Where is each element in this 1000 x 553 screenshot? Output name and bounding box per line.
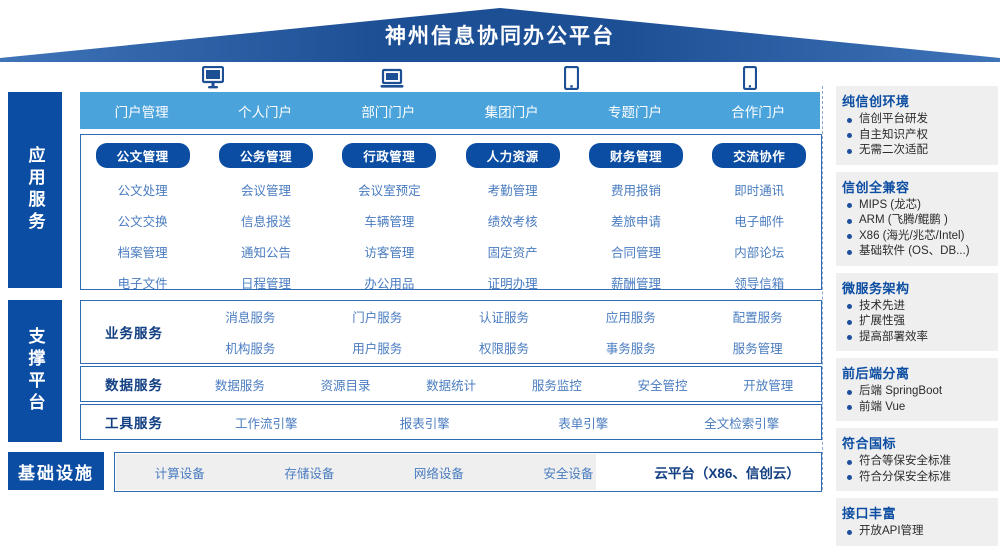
tablet-icon	[564, 66, 579, 90]
support-data-items: 数据服务 资源目录 数据统计 服务监控 安全管控 开放管理	[187, 367, 821, 401]
app-column-title[interactable]: 公文管理	[96, 143, 190, 168]
app-item[interactable]: 证明办理	[488, 273, 538, 292]
app-column: 人力资源 考勤管理 绩效考核 固定资产 证明办理	[451, 135, 574, 289]
sidebar-list-item: 开放API管理	[842, 524, 992, 540]
infrastructure-item[interactable]: 计算设备	[115, 463, 245, 482]
support-item[interactable]: 资源目录	[293, 375, 399, 394]
portal-item[interactable]: 专题门户	[573, 101, 696, 121]
portal-item[interactable]: 门户管理	[80, 101, 203, 121]
support-item[interactable]: 认证服务	[441, 307, 568, 326]
support-row: 机构服务 用户服务 权限服务 事务服务 服务管理	[187, 332, 821, 363]
app-item[interactable]: 公文处理	[118, 180, 168, 199]
sidebar-list-item: 自主知识产权	[842, 128, 992, 144]
application-service-grid: 公文管理 公文处理 公文交换 档案管理 电子文件 公务管理 会议管理 信息报送 …	[80, 134, 822, 290]
sidebar-list-item: 符合分保安全标准	[842, 470, 992, 486]
app-item[interactable]: 公文交换	[118, 211, 168, 230]
app-item[interactable]: 固定资产	[488, 242, 538, 261]
app-item[interactable]: 费用报销	[611, 180, 661, 199]
rail-infrastructure-label: 基础设施	[18, 459, 94, 484]
sidebar-section-frontend-backend-separation: 前后端分离 后端 SpringBoot 前端 Vue	[836, 358, 998, 421]
support-business-service-box: 业务服务 消息服务 门户服务 认证服务 应用服务 配置服务 机构服务 用户服务 …	[80, 300, 822, 364]
support-item[interactable]: 服务监控	[504, 375, 610, 394]
app-item[interactable]: 差旅申请	[611, 211, 661, 230]
app-item[interactable]: 档案管理	[118, 242, 168, 261]
support-business-label: 业务服务	[81, 322, 187, 342]
support-data-service-box: 数据服务 数据服务 资源目录 数据统计 服务监控 安全管控 开放管理	[80, 366, 822, 402]
sidebar-section-title: 信创全兼容	[842, 177, 992, 196]
support-item[interactable]: 表单引擎	[504, 413, 663, 432]
rail-infrastructure: 基础设施	[8, 452, 104, 490]
infrastructure-item[interactable]: 网络设备	[374, 463, 504, 482]
laptop-icon	[380, 68, 404, 90]
app-item[interactable]: 访客管理	[364, 242, 414, 261]
support-tool-service-box: 工具服务 工作流引擎 报表引擎 表单引擎 全文检索引擎	[80, 404, 822, 440]
support-row: 工作流引擎 报表引擎 表单引擎 全文检索引擎	[187, 405, 821, 439]
support-item[interactable]: 工作流引擎	[187, 413, 346, 432]
sidebar-section-title: 纯信创环境	[842, 91, 992, 110]
app-column: 公务管理 会议管理 信息报送 通知公告 日程管理	[204, 135, 327, 289]
support-item[interactable]: 开放管理	[715, 375, 821, 394]
sidebar-list-item: 符合等保安全标准	[842, 454, 992, 470]
architecture-diagram: 神州信息协同办公平台	[0, 0, 1000, 500]
sidebar-list-item: 信创平台研发	[842, 112, 992, 128]
platform-roof: 神州信息协同办公平台	[0, 0, 1000, 62]
app-column-title[interactable]: 财务管理	[589, 143, 683, 168]
app-column: 交流协作 即时通讯 电子邮件 内部论坛 领导信箱	[698, 135, 821, 289]
portal-bar: 门户管理 个人门户 部门门户 集团门户 专题门户 合作门户	[80, 92, 820, 129]
app-item[interactable]: 内部论坛	[734, 242, 784, 261]
sidebar-section-title: 前后端分离	[842, 363, 992, 382]
app-column-title[interactable]: 人力资源	[466, 143, 560, 168]
device-icon-row	[80, 62, 820, 90]
sidebar-section-list: 后端 SpringBoot 前端 Vue	[842, 384, 992, 415]
sidebar-list-item: 基础软件 (OS、DB...)	[842, 244, 992, 260]
support-item[interactable]: 报表引擎	[346, 413, 505, 432]
sidebar-section-rich-interfaces: 接口丰富 开放API管理	[836, 498, 998, 546]
support-item[interactable]: 门户服务	[314, 307, 441, 326]
app-item[interactable]: 即时通讯	[734, 180, 784, 199]
app-column-title[interactable]: 行政管理	[342, 143, 436, 168]
app-item[interactable]: 车辆管理	[364, 211, 414, 230]
support-business-items: 消息服务 门户服务 认证服务 应用服务 配置服务 机构服务 用户服务 权限服务 …	[187, 301, 821, 363]
feature-sidebar: 纯信创环境 信创平台研发 自主知识产权 无需二次适配 信创全兼容 MIPS (龙…	[836, 86, 998, 553]
sidebar-section-title: 符合国标	[842, 433, 992, 452]
support-row: 数据服务 资源目录 数据统计 服务监控 安全管控 开放管理	[187, 367, 821, 401]
sidebar-section-title: 接口丰富	[842, 503, 992, 522]
sidebar-section-microservice: 微服务架构 技术先进 扩展性强 提高部署效率	[836, 273, 998, 352]
support-tool-label: 工具服务	[81, 412, 187, 432]
portal-item[interactable]: 集团门户	[450, 101, 573, 121]
app-item[interactable]: 考勤管理	[488, 180, 538, 199]
infrastructure-item[interactable]: 存储设备	[245, 463, 375, 482]
app-item[interactable]: 日程管理	[241, 273, 291, 292]
support-item[interactable]: 配置服务	[694, 307, 821, 326]
sidebar-section-list: MIPS (龙芯) ARM (飞腾/鲲鹏 ) X86 (海光/兆芯/Intel)…	[842, 198, 992, 260]
support-item[interactable]: 数据服务	[187, 375, 293, 394]
sidebar-list-item: 技术先进	[842, 299, 992, 315]
sidebar-list-item: 无需二次适配	[842, 143, 992, 159]
support-item[interactable]: 全文检索引擎	[663, 413, 822, 432]
portal-item[interactable]: 合作门户	[697, 101, 820, 121]
desktop-monitor-icon	[202, 66, 224, 90]
sidebar-list-item: X86 (海光/兆芯/Intel)	[842, 229, 992, 245]
app-item[interactable]: 电子邮件	[734, 211, 784, 230]
sidebar-section-title: 微服务架构	[842, 278, 992, 297]
support-item[interactable]: 机构服务	[187, 338, 314, 357]
support-data-label: 数据服务	[81, 374, 187, 394]
app-column-title[interactable]: 交流协作	[712, 143, 806, 168]
sidebar-section-list: 信创平台研发 自主知识产权 无需二次适配	[842, 112, 992, 159]
app-column: 公文管理 公文处理 公文交换 档案管理 电子文件	[81, 135, 204, 289]
support-item[interactable]: 数据统计	[398, 375, 504, 394]
app-column: 行政管理 会议室预定 车辆管理 访客管理 办公用品	[328, 135, 451, 289]
vertical-divider	[822, 86, 823, 490]
support-item[interactable]: 用户服务	[314, 338, 441, 357]
rail-application-label: 应用服务	[23, 146, 48, 234]
app-item[interactable]: 领导信箱	[734, 273, 784, 292]
infrastructure-box: 计算设备 存储设备 网络设备 安全设备 云平台（X86、信创云）	[114, 452, 822, 492]
support-item[interactable]: 权限服务	[441, 338, 568, 357]
app-item[interactable]: 会议室预定	[358, 180, 421, 199]
app-item[interactable]: 合同管理	[611, 242, 661, 261]
sidebar-list-item: 扩展性强	[842, 314, 992, 330]
support-item[interactable]: 安全管控	[610, 375, 716, 394]
app-item[interactable]: 通知公告	[241, 242, 291, 261]
portal-item[interactable]: 个人门户	[203, 101, 326, 121]
sidebar-section-national-standard: 符合国标 符合等保安全标准 符合分保安全标准	[836, 428, 998, 491]
app-item[interactable]: 信息报送	[241, 211, 291, 230]
phone-icon	[743, 66, 757, 90]
page-title: 神州信息协同办公平台	[0, 20, 1000, 50]
support-item[interactable]: 服务管理	[694, 338, 821, 357]
sidebar-section-list: 符合等保安全标准 符合分保安全标准	[842, 454, 992, 485]
sidebar-list-item: 后端 SpringBoot	[842, 384, 992, 400]
sidebar-section-pure-xinchuang: 纯信创环境 信创平台研发 自主知识产权 无需二次适配	[836, 86, 998, 165]
app-item[interactable]: 电子文件	[118, 273, 168, 292]
app-item[interactable]: 绩效考核	[488, 211, 538, 230]
sidebar-list-item: ARM (飞腾/鲲鹏 )	[842, 213, 992, 229]
app-item[interactable]: 会议管理	[241, 180, 291, 199]
app-column: 财务管理 费用报销 差旅申请 合同管理 薪酬管理	[574, 135, 697, 289]
sidebar-section-list: 技术先进 扩展性强 提高部署效率	[842, 299, 992, 346]
support-tool-items: 工作流引擎 报表引擎 表单引擎 全文检索引擎	[187, 405, 821, 439]
support-item[interactable]: 应用服务	[567, 307, 694, 326]
portal-item[interactable]: 部门门户	[327, 101, 450, 121]
app-column-title[interactable]: 公务管理	[219, 143, 313, 168]
app-item[interactable]: 办公用品	[364, 273, 414, 292]
rail-application-service: 应用服务	[8, 92, 62, 288]
rail-support-platform: 支撑平台	[8, 300, 62, 442]
sidebar-list-item: 提高部署效率	[842, 330, 992, 346]
rail-support-label: 支撑平台	[23, 327, 48, 415]
sidebar-list-item: 前端 Vue	[842, 400, 992, 416]
support-row: 消息服务 门户服务 认证服务 应用服务 配置服务	[187, 301, 821, 332]
sidebar-list-item: MIPS (龙芯)	[842, 198, 992, 214]
sidebar-section-full-compatibility: 信创全兼容 MIPS (龙芯) ARM (飞腾/鲲鹏 ) X86 (海光/兆芯/…	[836, 172, 998, 266]
support-item[interactable]: 消息服务	[187, 307, 314, 326]
sidebar-section-list: 开放API管理	[842, 524, 992, 540]
infrastructure-cloud-platform[interactable]: 云平台（X86、信创云）	[633, 462, 821, 482]
app-item[interactable]: 薪酬管理	[611, 273, 661, 292]
support-item[interactable]: 事务服务	[567, 338, 694, 357]
infrastructure-item[interactable]: 安全设备	[504, 463, 634, 482]
